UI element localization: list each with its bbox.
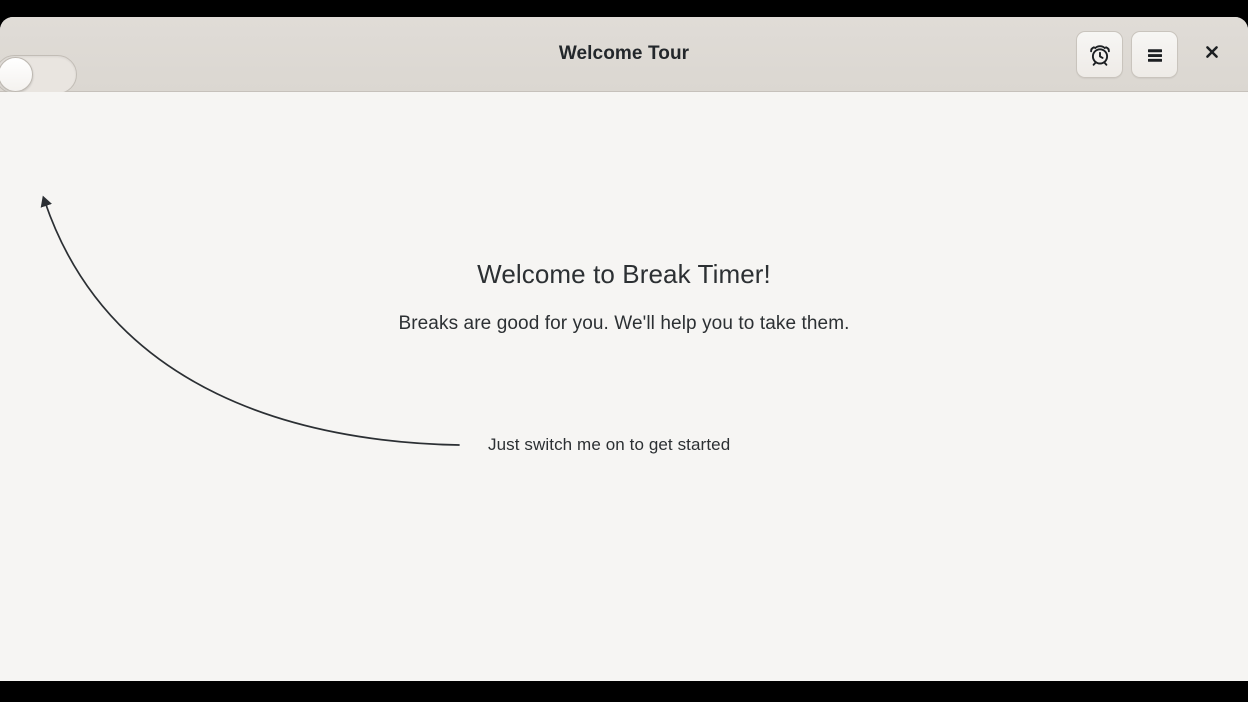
page-title: Welcome to Break Timer! — [0, 259, 1248, 290]
screen-frame: Welcome Tour — [0, 0, 1248, 702]
break-timer-window: Welcome Tour — [0, 17, 1248, 681]
alarm-clock-icon — [1088, 43, 1112, 67]
welcome-tour-content: Welcome to Break Timer! Breaks are good … — [0, 92, 1248, 681]
window-headerbar: Welcome Tour — [0, 17, 1248, 92]
hamburger-menu-icon — [1144, 44, 1166, 66]
alarm-button[interactable] — [1076, 31, 1123, 78]
curved-pointer-arrow — [0, 92, 1248, 681]
menu-button[interactable] — [1131, 31, 1178, 78]
window-title: Welcome Tour — [0, 17, 1248, 91]
welcome-text-block: Welcome to Break Timer! Breaks are good … — [0, 259, 1248, 335]
close-button[interactable] — [1190, 33, 1234, 77]
headerbar-actions — [1076, 17, 1248, 92]
close-icon — [1202, 42, 1222, 67]
switch-hint-label: Just switch me on to get started — [488, 435, 730, 455]
page-subtitle: Breaks are good for you. We'll help you … — [0, 313, 1248, 335]
